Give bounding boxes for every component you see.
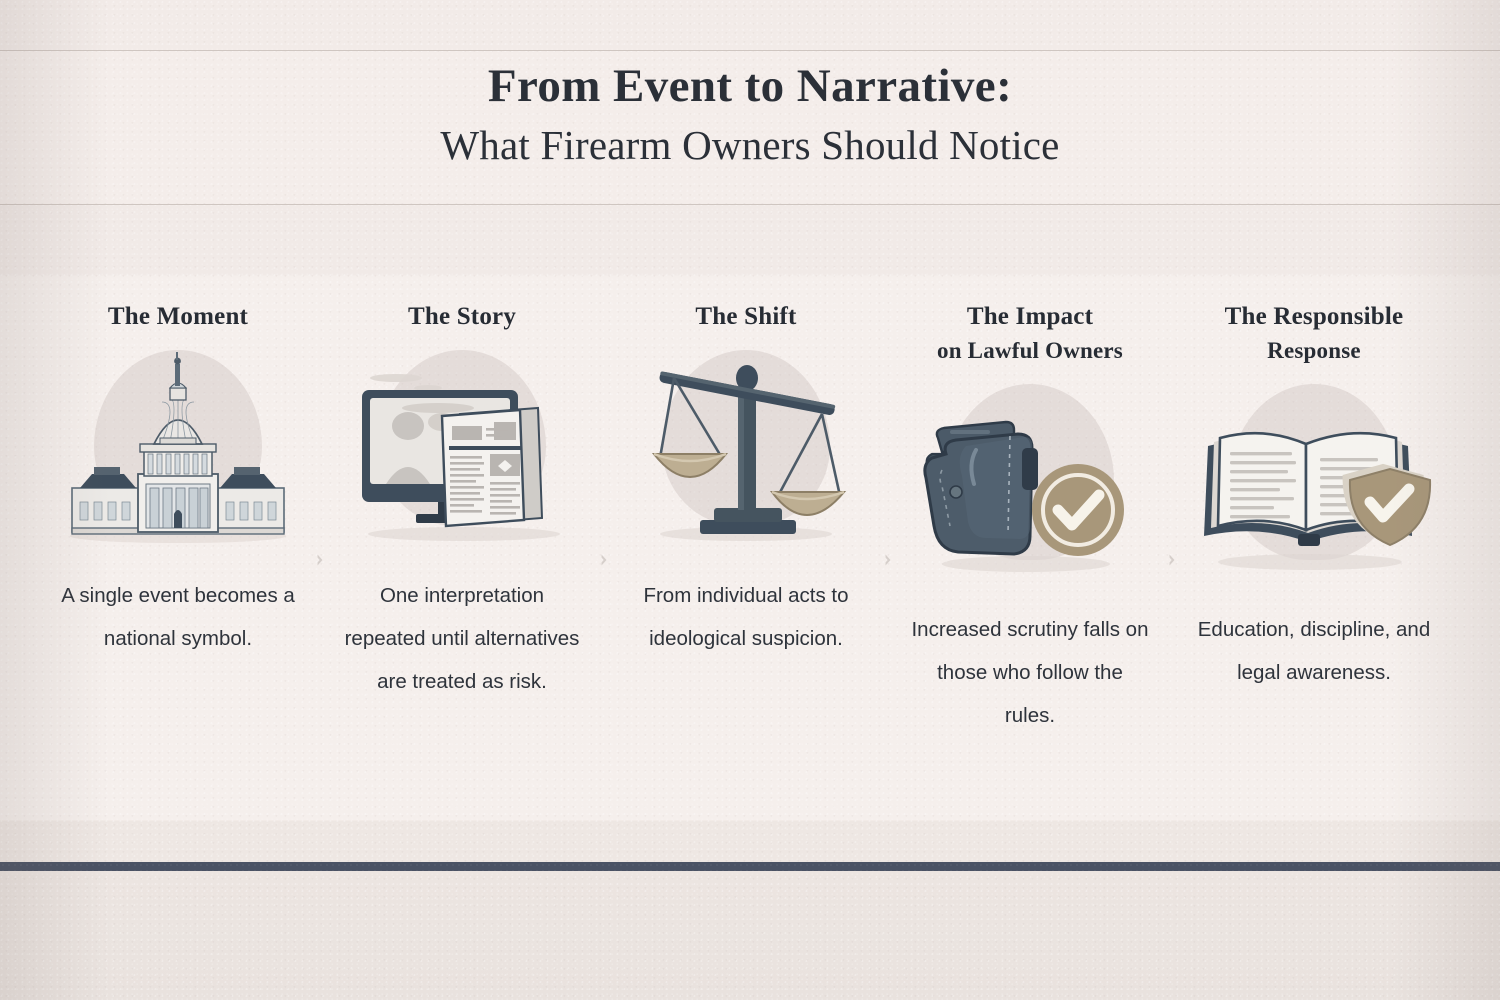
step-heading: The Responsible Response	[1225, 300, 1404, 368]
process-flow: The Moment	[40, 300, 1460, 800]
step-heading: The Shift	[695, 300, 796, 334]
step-the-shift: The Shift	[608, 300, 884, 660]
step-heading-main: The Responsible	[1225, 303, 1404, 330]
step-caption: Increased scrutiny falls on those who fo…	[910, 608, 1150, 737]
title-line-1: From Event to Narrative:	[0, 56, 1500, 116]
step-heading-main: The Story	[408, 303, 516, 330]
step-heading-main: The Shift	[695, 303, 796, 330]
chevron-right-icon	[600, 430, 608, 690]
unbalanced-scales-icon	[621, 346, 871, 546]
step-caption: A single event becomes a national symbol…	[58, 574, 298, 660]
step-heading: The Moment	[108, 300, 248, 334]
step-the-story: The Story	[324, 300, 600, 703]
holstered-firearm-check-badge-icon	[905, 380, 1155, 580]
chevron-right-icon	[316, 430, 324, 690]
page-title: From Event to Narrative: What Firearm Ow…	[0, 56, 1500, 174]
capitol-building-icon	[53, 346, 303, 546]
step-heading-main: The Moment	[108, 303, 248, 330]
step-heading-main: The Impact	[967, 303, 1093, 330]
step-heading: The Story	[408, 300, 516, 334]
step-the-responsible-response: The Responsible Response	[1176, 300, 1452, 694]
open-book-shield-check-icon	[1189, 380, 1439, 580]
header-divider-bottom	[0, 204, 1500, 205]
title-line-2: What Firearm Owners Should Notice	[0, 116, 1500, 174]
step-caption: From individual acts to ideological susp…	[626, 574, 866, 660]
tv-monitor-newspaper-icon	[337, 346, 587, 546]
step-heading-sub: Response	[1225, 334, 1404, 368]
footer-accent-bar	[0, 862, 1500, 871]
step-heading-sub: on Lawful Owners	[937, 334, 1123, 368]
header-divider-top	[0, 50, 1500, 51]
step-the-impact: The Impact on Lawful Owners	[892, 300, 1168, 737]
step-the-moment: The Moment	[40, 300, 316, 660]
step-caption: Education, discipline, and legal awarene…	[1194, 608, 1434, 694]
chevron-right-icon	[1168, 430, 1176, 690]
step-heading: The Impact on Lawful Owners	[937, 300, 1123, 368]
infographic-poster: From Event to Narrative: What Firearm Ow…	[0, 0, 1500, 1000]
step-caption: One interpretation repeated until altern…	[342, 574, 582, 703]
chevron-right-icon	[884, 430, 892, 690]
